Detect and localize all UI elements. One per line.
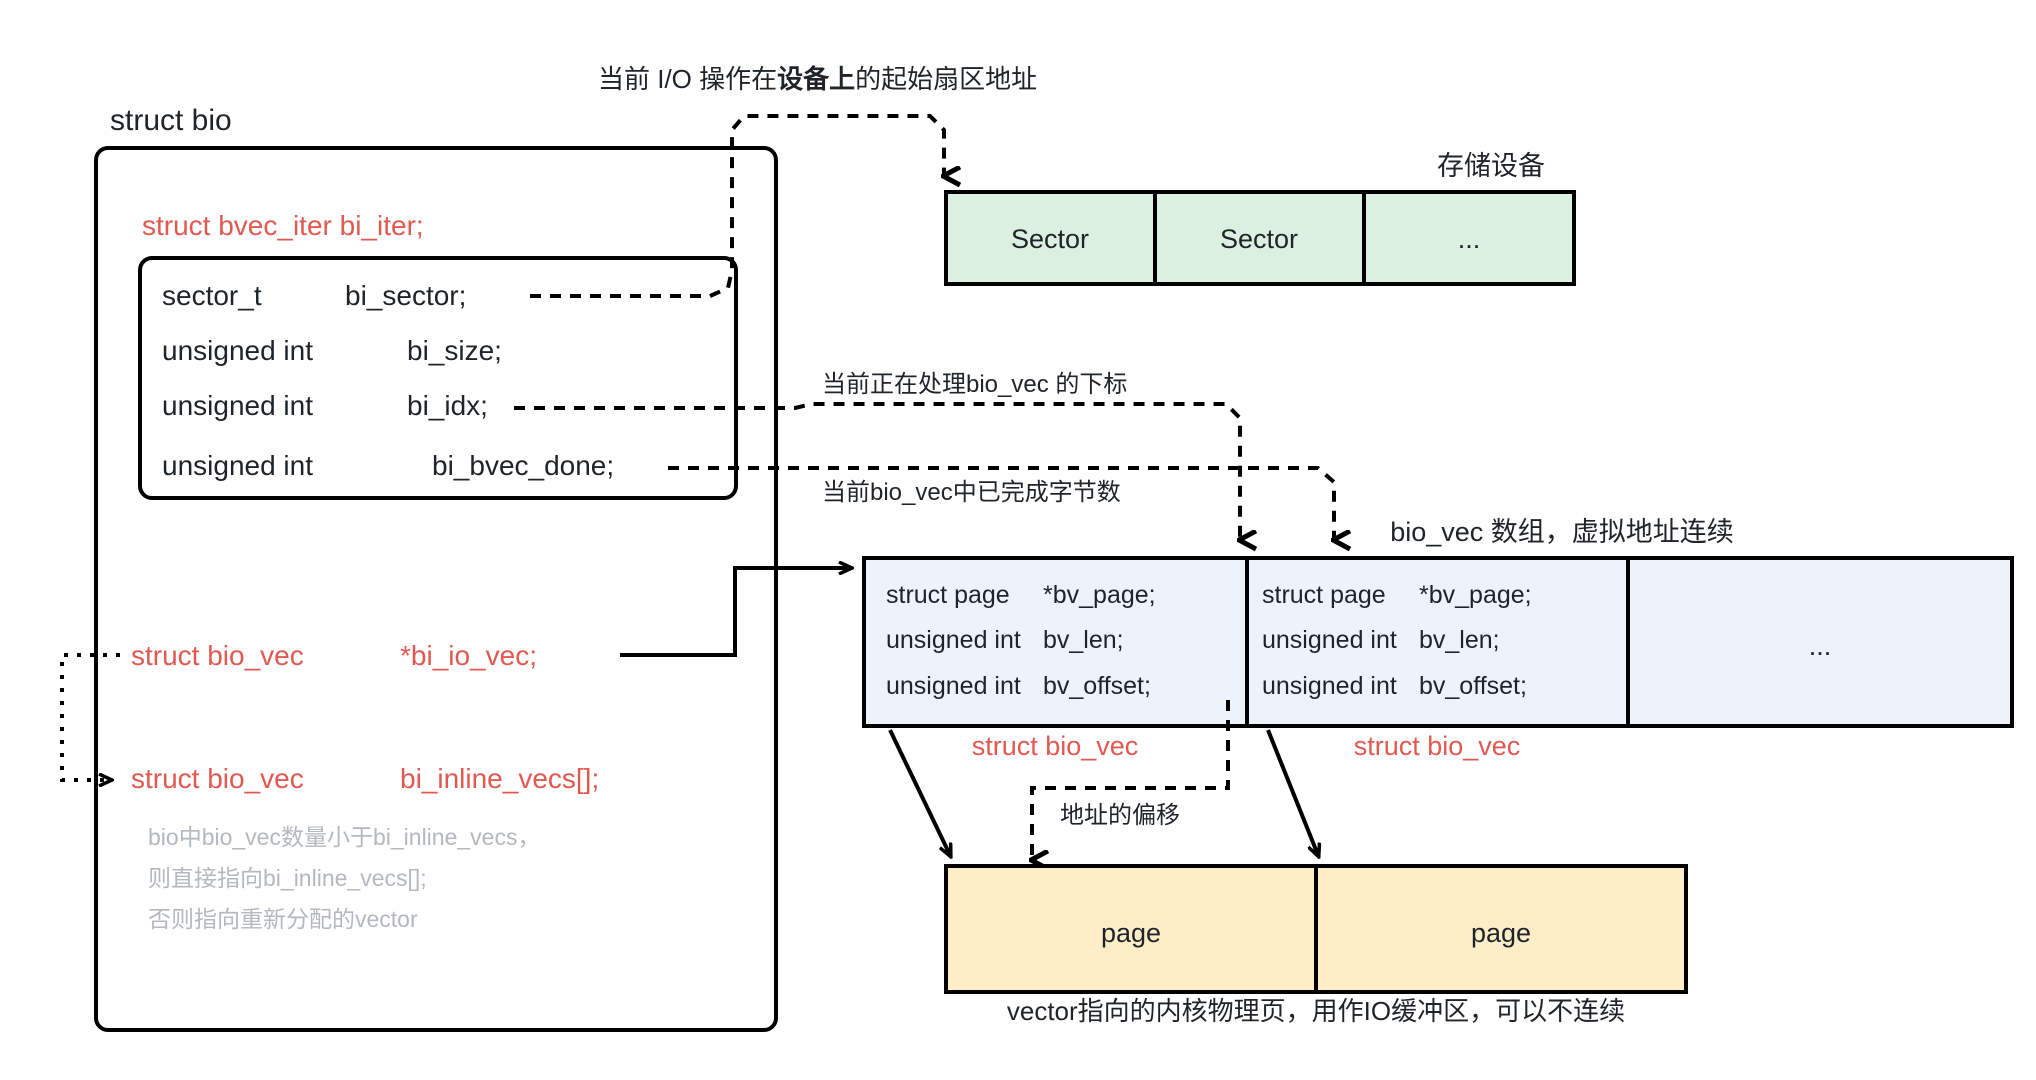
storage-cell-0: Sector bbox=[1011, 224, 1089, 254]
bi-idx-to-biovec-arrow bbox=[514, 404, 1240, 540]
bio-vec-array-label: bio_vec 数组，虚拟地址连续 bbox=[1390, 517, 1734, 547]
field-name-bi-sector: bi_sector; bbox=[345, 280, 466, 311]
biovec-caption-0: struct bio_vec bbox=[972, 731, 1139, 761]
bi-io-vec-to-inline-vecs-arrow bbox=[62, 655, 120, 780]
biovec-1-line-1-type: unsigned int bbox=[1262, 626, 1397, 654]
biovec-1-line-2-type: unsigned int bbox=[1262, 672, 1397, 700]
bi-inline-vecs-decl-name: bi_inline_vecs[]; bbox=[400, 763, 599, 794]
field-name-bi-bvec-done: bi_bvec_done; bbox=[432, 450, 614, 481]
biovec-0-line-0-name: *bv_page; bbox=[1043, 581, 1156, 609]
bi-inline-vecs-decl-type: struct bio_vec bbox=[131, 763, 304, 794]
bi-io-vec-pointer-arrow bbox=[620, 568, 850, 655]
biovec-1-line-2-name: bv_offset; bbox=[1419, 672, 1527, 700]
biovec-0-page-pointer-arrow bbox=[890, 730, 950, 855]
biovec-caption-1: struct bio_vec bbox=[1354, 731, 1521, 761]
biovec-0-line-1-name: bv_len; bbox=[1043, 626, 1124, 654]
bi-sector-annotation-bold: 设备上 bbox=[777, 64, 855, 94]
biovec-0-line-2-type: unsigned int bbox=[886, 672, 1021, 700]
page-cell-0: page bbox=[1101, 918, 1161, 948]
biovec-1-line-0-name: *bv_page; bbox=[1419, 581, 1532, 609]
storage-cell-2: ... bbox=[1458, 224, 1481, 254]
field-name-bi-idx: bi_idx; bbox=[407, 390, 488, 421]
field-type-bi-idx: unsigned int bbox=[162, 390, 313, 421]
bvec-iter-declaration: struct bvec_iter bi_iter; bbox=[142, 210, 424, 241]
inline-note-line-2: 则直接指向bi_inline_vecs[]; bbox=[148, 865, 427, 891]
field-type-bi-sector: sector_t bbox=[162, 280, 262, 311]
biovec-1-line-1-name: bv_len; bbox=[1419, 626, 1500, 654]
inline-note-line-3: 否则指向重新分配的vector bbox=[148, 906, 418, 932]
inline-note-line-1: bio中bio_vec数量小于bi_inline_vecs， bbox=[148, 824, 540, 850]
biovec-1-line-0-type: struct page bbox=[1262, 581, 1386, 609]
biovec-0-line-2-name: bv_offset; bbox=[1043, 672, 1151, 700]
struct-bio-title: struct bio bbox=[110, 104, 232, 137]
field-name-bi-size: bi_size; bbox=[407, 335, 502, 366]
bio-structure-diagram: 当前 I/O 操作在设备上的起始扇区地址 struct bio struct b… bbox=[0, 0, 2036, 1080]
diagram-canvas: 当前 I/O 操作在设备上的起始扇区地址 struct bio struct b… bbox=[0, 0, 2036, 1080]
storage-cell-1: Sector bbox=[1220, 224, 1298, 254]
bi-sector-annotation-suffix: 的起始扇区地址 bbox=[855, 64, 1037, 94]
biovec-1-page-pointer-arrow bbox=[1268, 730, 1318, 855]
page-cell-1: page bbox=[1471, 918, 1531, 948]
page-caption: vector指向的内核物理页，用作IO缓冲区，可以不连续 bbox=[1007, 996, 1625, 1026]
field-type-bi-size: unsigned int bbox=[162, 335, 313, 366]
bi-io-vec-decl-name: *bi_io_vec; bbox=[400, 640, 537, 671]
bi-idx-annotation-label: 当前正在处理bio_vec 的下标 bbox=[822, 371, 1127, 398]
bi-sector-annotation-prefix: 当前 I/O 操作在 bbox=[598, 64, 777, 94]
bi-sector-annotation-label: 当前 I/O 操作在设备上的起始扇区地址 bbox=[598, 64, 1037, 94]
field-type-bi-bvec-done: unsigned int bbox=[162, 450, 313, 481]
bio-vec-ellipsis-cell: ... bbox=[1809, 631, 1832, 661]
biovec-0-line-1-type: unsigned int bbox=[886, 626, 1021, 654]
storage-device-label: 存储设备 bbox=[1437, 151, 1545, 181]
address-offset-label: 地址的偏移 bbox=[1060, 802, 1180, 829]
bi-bvec-done-annotation-label: 当前bio_vec中已完成字节数 bbox=[822, 479, 1121, 506]
biovec-0-line-0-type: struct page bbox=[886, 581, 1010, 609]
bi-io-vec-decl-type: struct bio_vec bbox=[131, 640, 304, 671]
